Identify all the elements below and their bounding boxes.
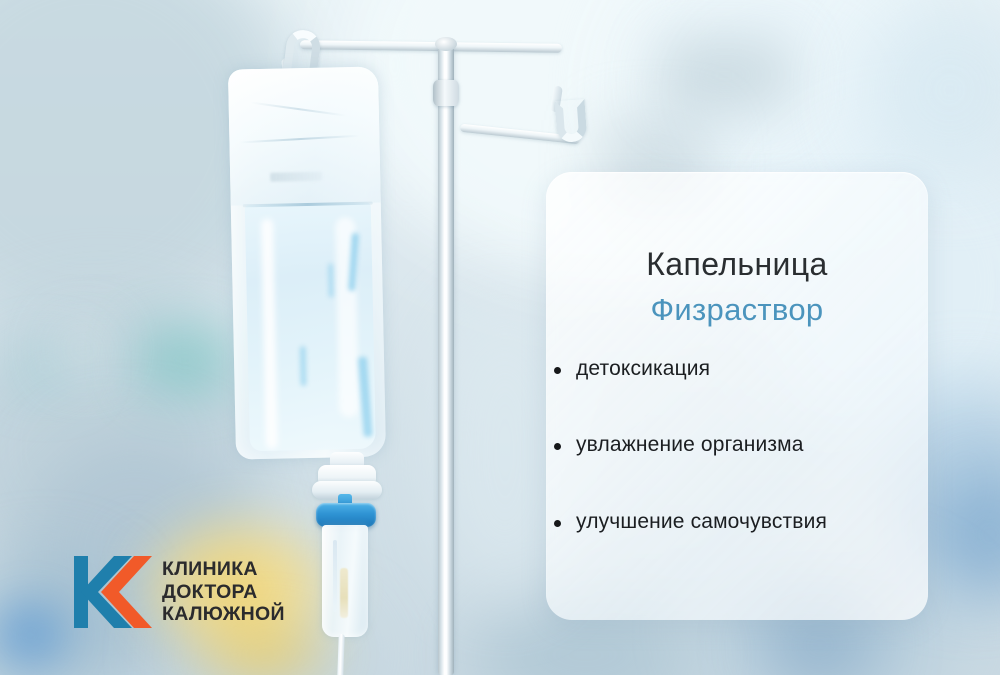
logo-line-1: КЛИНИКА	[162, 558, 258, 580]
list-item-label: улучшение самочувствия	[576, 509, 827, 535]
iv-saline-bag-icon	[228, 66, 386, 459]
benefits-list: детоксикация увлажнение организма улучше…	[554, 356, 918, 585]
clinic-logo[interactable]: КЛИНИКА ДОКТОРА КАЛЮЖНОЙ	[74, 552, 285, 632]
drip-blue-cap	[316, 503, 376, 527]
background-blue-glow	[0, 585, 85, 675]
logo-line-2: ДОКТОРА	[162, 581, 258, 603]
background-blur-shape	[60, 332, 106, 366]
chamber-inner-tube	[333, 540, 337, 612]
list-item: детоксикация	[554, 356, 918, 382]
list-item-label: увлажнение организма	[576, 432, 804, 458]
bullet-dot-icon	[554, 443, 561, 450]
bullet-dot-icon	[554, 367, 561, 374]
page-title: Капельница	[546, 246, 928, 283]
bag-blue-reflection	[300, 346, 307, 386]
bag-blue-reflection	[328, 263, 334, 297]
iv-stand-collar	[433, 80, 459, 106]
iv-stand-cap	[435, 37, 457, 51]
iv-hook-icon	[555, 99, 588, 143]
background-blur-shape	[660, 40, 790, 110]
chamber-filter	[340, 568, 348, 618]
list-item: увлажнение организма	[554, 432, 918, 458]
double-chevron-k-logo-icon	[74, 552, 152, 632]
iv-stand-pole	[438, 44, 454, 675]
list-item: улучшение самочувствия	[554, 509, 918, 535]
background-teal-accent	[140, 330, 230, 390]
bag-embossed-label	[270, 172, 322, 182]
promo-banner: Капельница Физраствор детоксикация увлаж…	[0, 0, 1000, 675]
list-item-label: детоксикация	[576, 356, 710, 382]
logo-line-3: КАЛЮЖНОЙ	[162, 603, 285, 625]
bullet-dot-icon	[554, 520, 561, 527]
info-panel: Капельница Физраствор детоксикация увлаж…	[546, 172, 928, 620]
logo-wordmark: КЛИНИКА ДОКТОРА КАЛЮЖНОЙ	[162, 558, 285, 626]
panel-subtitle: Физраствор	[546, 292, 928, 328]
